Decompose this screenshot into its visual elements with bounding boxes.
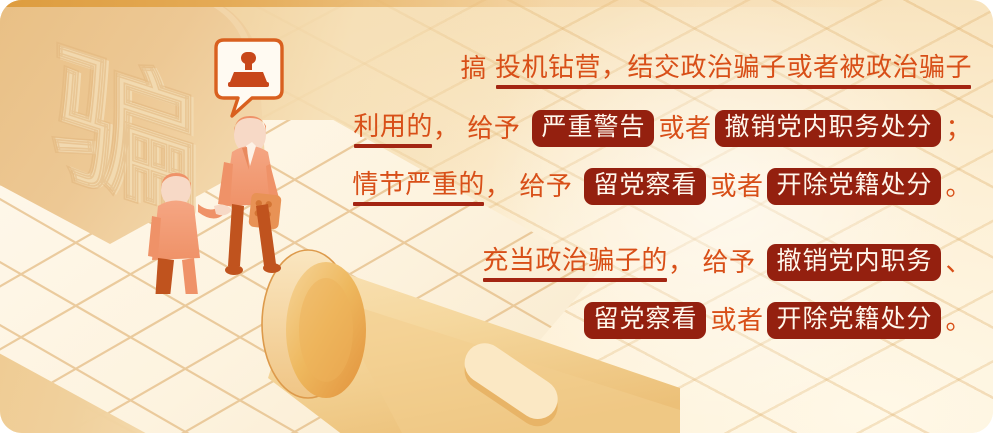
handshake-illustration xyxy=(128,34,338,294)
penalty-badge-remove-inner-party-post-2[interactable]: 撤销党内职务 xyxy=(767,244,941,281)
text-line-4: 充当政治骗子的，给予撤销党内职务、 xyxy=(352,244,972,281)
penalty-badge-remove-inner-party-post[interactable]: 撤销党内职务处分 xyxy=(715,110,941,147)
line3-give: 给予 xyxy=(519,172,572,202)
line5-end: 。 xyxy=(945,306,972,336)
poster-root: 骗 骗 骗 xyxy=(0,0,993,433)
penalty-badge-probation-within-party-2[interactable]: 留党察看 xyxy=(584,302,706,339)
text-content: 搞投机钻营，结交政治骗子或者被政治骗子 利用的，给予严重警告或者撤销党内职务处分… xyxy=(352,36,972,366)
line5-conjunction: 或者 xyxy=(710,306,763,336)
line3-conjunction: 或者 xyxy=(710,172,763,202)
line1-lead: 搞 xyxy=(460,54,487,84)
text-line-3: 情节严重的，给予留党察看或者开除党籍处分。 xyxy=(352,168,972,205)
line4-underlined: 充当政治骗子的 xyxy=(482,246,668,279)
penalty-badge-expulsion-from-party-2[interactable]: 开除党籍处分 xyxy=(767,302,941,339)
line2-conjunction: 或者 xyxy=(658,114,711,144)
line2-underlined: 利用的 xyxy=(353,112,433,145)
line1-underlined: 投机钻营，结交政治骗子或者被政治骗子 xyxy=(495,53,972,86)
line3-underlined: 情节严重的 xyxy=(352,170,485,203)
top-accent-band xyxy=(0,0,993,7)
line2-give: 给予 xyxy=(467,114,520,144)
penalty-badge-probation-within-party[interactable]: 留党察看 xyxy=(584,168,706,205)
text-line-5: 留党察看或者开除党籍处分。 xyxy=(352,302,972,339)
line4-give: 给予 xyxy=(702,248,755,278)
official-figure xyxy=(218,116,282,275)
line3-end: 。 xyxy=(945,172,972,202)
line4-end: 、 xyxy=(945,248,972,278)
text-line-1: 搞投机钻营，结交政治骗子或者被政治骗子 xyxy=(352,52,972,86)
line2-comma: ， xyxy=(433,114,460,144)
penalty-badge-serious-warning[interactable]: 严重警告 xyxy=(532,110,654,147)
line4-comma: ， xyxy=(668,248,695,278)
line3-comma: ， xyxy=(485,172,512,202)
text-line-2: 利用的，给予严重警告或者撤销党内职务处分； xyxy=(352,110,972,147)
penalty-badge-expulsion-from-party[interactable]: 开除党籍处分 xyxy=(767,168,941,205)
briber-figure xyxy=(148,173,232,294)
line2-end: ； xyxy=(945,114,972,144)
speech-bubble xyxy=(216,40,282,116)
